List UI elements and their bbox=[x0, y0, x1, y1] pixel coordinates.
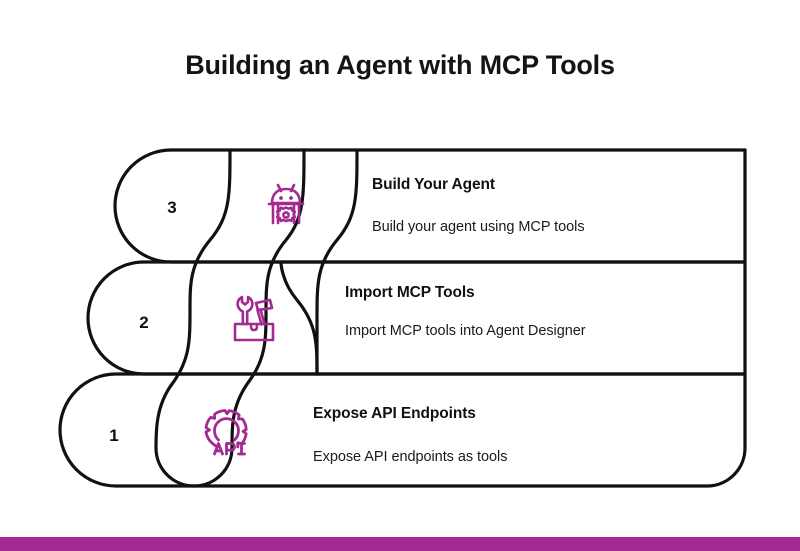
step-number-2: 2 bbox=[124, 313, 164, 333]
infographic-canvas: Building an Agent with MCP Tools 3 bbox=[0, 0, 800, 551]
step-number-3: 3 bbox=[152, 198, 192, 218]
step-number-1: 1 bbox=[94, 426, 134, 446]
accent-bar bbox=[0, 537, 800, 551]
step-description-2: Import MCP tools into Agent Designer bbox=[345, 322, 595, 342]
robot-gear-icon bbox=[254, 174, 318, 238]
step-description-3: Build your agent using MCP tools bbox=[372, 218, 702, 238]
step-heading-1: Expose API Endpoints bbox=[313, 405, 476, 423]
step-bands-outline bbox=[0, 0, 800, 551]
step-description-1: Expose API endpoints as tools bbox=[313, 448, 643, 468]
gear-api-icon bbox=[194, 398, 258, 462]
step-heading-3: Build Your Agent bbox=[372, 176, 495, 194]
step-heading-2: Import MCP Tools bbox=[345, 284, 475, 302]
divider-icon-text-lower bbox=[281, 262, 317, 374]
band-3-outline bbox=[115, 150, 745, 262]
toolbox-icon bbox=[222, 286, 286, 350]
